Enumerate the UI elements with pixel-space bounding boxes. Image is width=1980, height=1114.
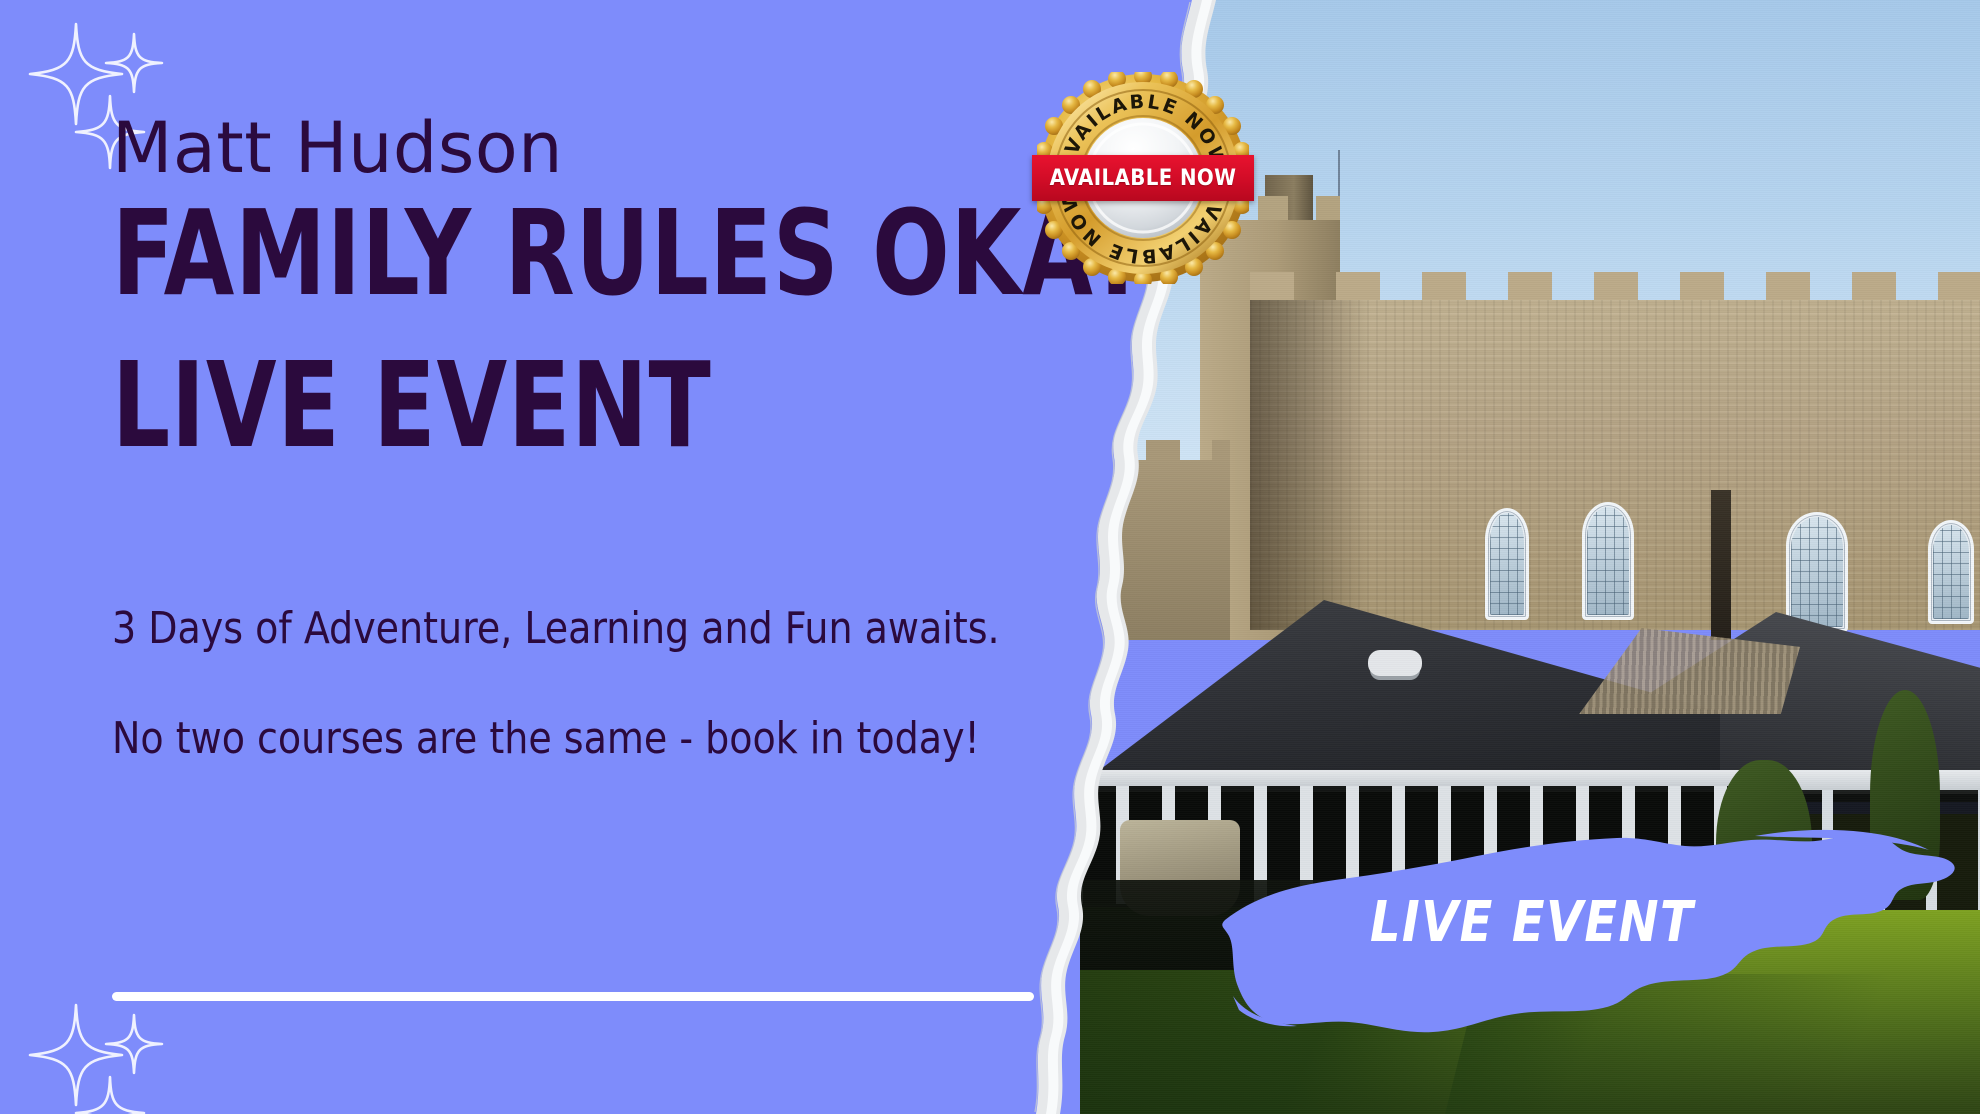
badge-red-banner: AVAILABLE NOW — [1032, 155, 1254, 201]
promotional-banner: Matt Hudson FAMILY RULES OKAY LIVE EVENT… — [0, 0, 1980, 1114]
body-line-2: No two courses are the same - book in to… — [112, 710, 1005, 768]
available-now-badge[interactable]: AVAILABLE NOW AVAILABLE NOW AVAILABLE NO… — [1037, 72, 1249, 284]
horizontal-divider — [112, 992, 1034, 1001]
badge-banner-text: AVAILABLE NOW — [1050, 166, 1237, 191]
body-text-block: 3 Days of Adventure, Learning and Fun aw… — [112, 600, 1042, 768]
event-title-line-2: LIVE EVENT — [112, 346, 938, 464]
event-title-line-1: FAMILY RULES OKAY — [112, 194, 938, 312]
headline-block: Matt Hudson FAMILY RULES OKAY LIVE EVENT — [112, 112, 1072, 464]
body-line-1: 3 Days of Adventure, Learning and Fun aw… — [112, 600, 1005, 658]
live-event-overlay-label: LIVE EVENT — [1370, 890, 1694, 955]
sparkle-cluster-bottom-left — [8, 985, 218, 1114]
presenter-name: Matt Hudson — [112, 112, 1072, 186]
body-spacer — [112, 658, 1042, 710]
